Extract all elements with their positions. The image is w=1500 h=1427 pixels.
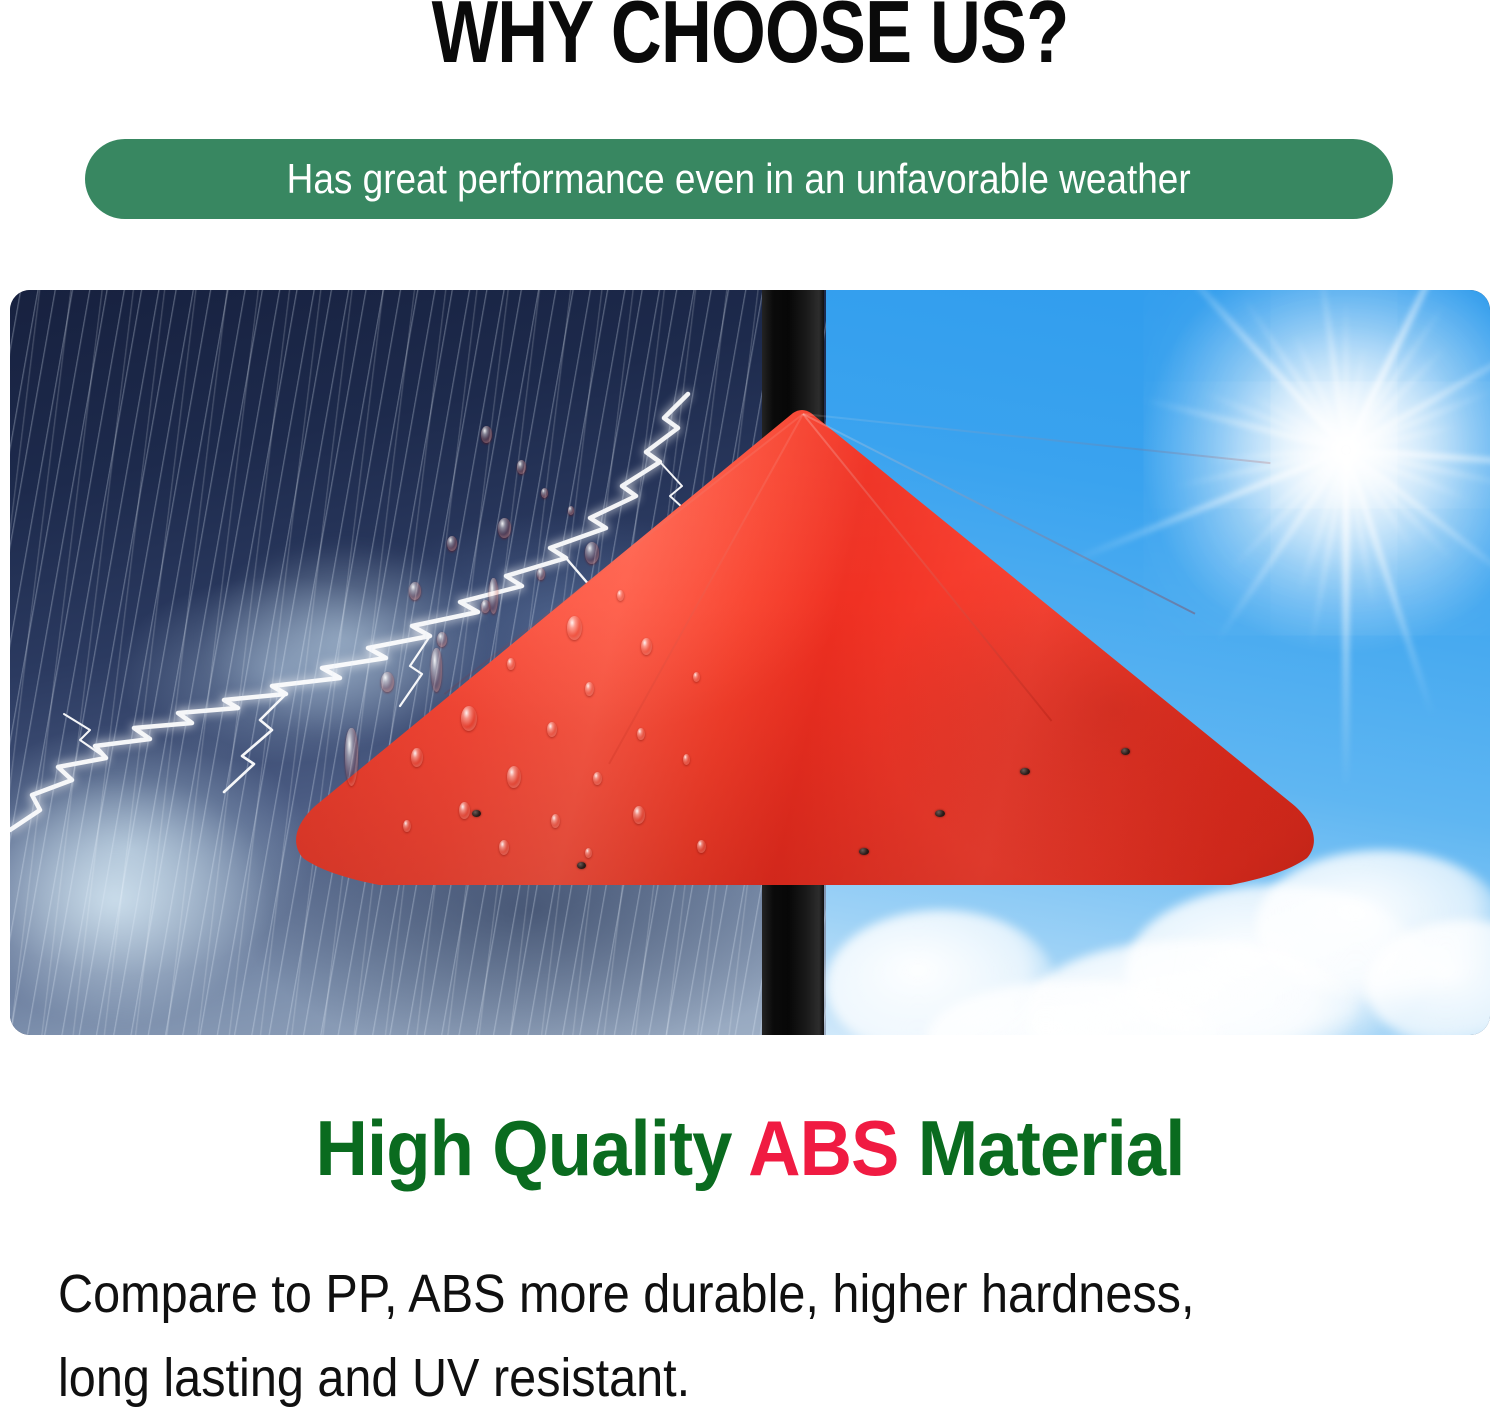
water-droplet — [633, 806, 645, 824]
mounting-screw — [472, 810, 481, 817]
water-droplet — [585, 848, 592, 858]
water-droplet — [541, 488, 548, 498]
water-droplet — [567, 616, 582, 640]
water-droplet — [537, 568, 545, 580]
water-droplet — [585, 682, 594, 696]
mounting-screw — [1020, 768, 1030, 775]
water-streak — [489, 578, 498, 614]
water-droplet — [551, 814, 560, 828]
water-streak — [431, 648, 442, 692]
description-line-2: long lasting and UV resistant. — [58, 1336, 1318, 1420]
heading-highlight-abs: ABS — [748, 1104, 898, 1192]
water-droplet — [507, 658, 515, 670]
water-droplet — [437, 632, 447, 647]
section-heading: High Quality ABS Material — [53, 1103, 1448, 1194]
water-droplet — [507, 766, 521, 788]
page-title: WHY CHOOSE US? — [150, 0, 1350, 78]
tagline-banner: Has great performance even in an unfavor… — [85, 139, 1393, 219]
product-hero-image — [10, 290, 1490, 1035]
baffle-cone-group — [10, 290, 1490, 1035]
water-droplet — [697, 840, 706, 853]
water-droplet — [447, 536, 457, 551]
heading-part-1: High Quality — [316, 1104, 749, 1192]
water-droplet — [641, 638, 652, 655]
water-droplet — [617, 590, 624, 601]
water-droplet — [461, 706, 477, 731]
water-droplet — [693, 672, 700, 682]
water-droplet — [381, 672, 394, 692]
water-droplet — [683, 754, 690, 765]
heading-part-2: Material — [898, 1104, 1184, 1192]
water-droplet — [637, 728, 645, 740]
water-droplet — [459, 802, 470, 819]
water-droplet — [593, 772, 602, 785]
cone-shading — [285, 410, 1325, 885]
water-droplet — [547, 722, 557, 737]
mounting-screw — [859, 848, 869, 855]
water-droplet — [481, 426, 492, 443]
water-droplet — [498, 518, 511, 538]
cone-seam — [803, 413, 1271, 464]
water-droplet — [585, 542, 599, 564]
water-droplet — [409, 582, 421, 600]
baffle-cone — [285, 410, 1325, 885]
water-droplet — [403, 820, 411, 832]
water-droplet — [568, 506, 574, 515]
description-text: Compare to PP, ABS more durable, higher … — [58, 1252, 1318, 1420]
water-droplet — [411, 748, 423, 767]
tagline-text: Has great performance even in an unfavor… — [287, 155, 1191, 203]
mounting-screw — [935, 810, 945, 817]
description-line-1: Compare to PP, ABS more durable, higher … — [58, 1252, 1318, 1336]
water-droplet — [499, 840, 509, 855]
water-droplet — [517, 460, 526, 474]
water-streak — [345, 728, 358, 786]
mounting-screw — [577, 862, 586, 869]
mounting-screw — [1121, 748, 1130, 755]
